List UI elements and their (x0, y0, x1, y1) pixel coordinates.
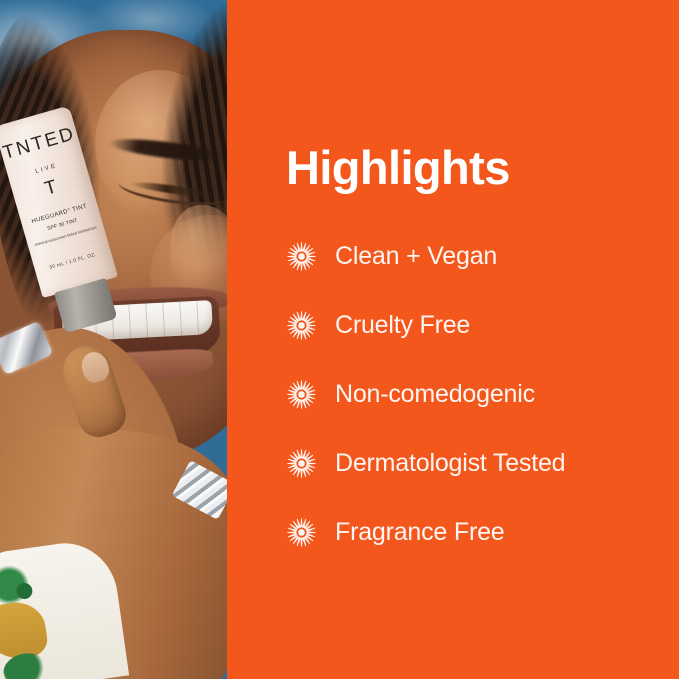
sunburst-icon (286, 241, 317, 272)
list-item: Cruelty Free (286, 291, 666, 360)
product-highlights-banner: TNTED LIVE T HUEGUARD° TINT SPF 30 TINT … (0, 0, 679, 679)
list-item: Clean + Vegan (286, 222, 666, 291)
highlights-list: Clean + Vegan Cruelty Free Non-comedogen… (286, 222, 666, 567)
nose (170, 205, 227, 300)
sunburst-icon (286, 310, 317, 341)
product-photo: TNTED LIVE T HUEGUARD° TINT SPF 30 TINT … (0, 0, 227, 679)
sunburst-icon (286, 448, 317, 479)
list-item-label: Fragrance Free (335, 518, 505, 547)
sunburst-icon (286, 379, 317, 410)
list-item: Fragrance Free (286, 498, 666, 567)
highlights-panel: Highlights Clean + Vegan Cruelty Free (227, 0, 679, 679)
list-item: Dermatologist Tested (286, 429, 666, 498)
list-item-label: Clean + Vegan (335, 242, 497, 271)
list-item: Non-comedogenic (286, 360, 666, 429)
list-item-label: Cruelty Free (335, 311, 470, 340)
list-item-label: Dermatologist Tested (335, 449, 565, 478)
page-title: Highlights (286, 140, 510, 196)
sunburst-icon (286, 517, 317, 548)
list-item-label: Non-comedogenic (335, 380, 535, 409)
